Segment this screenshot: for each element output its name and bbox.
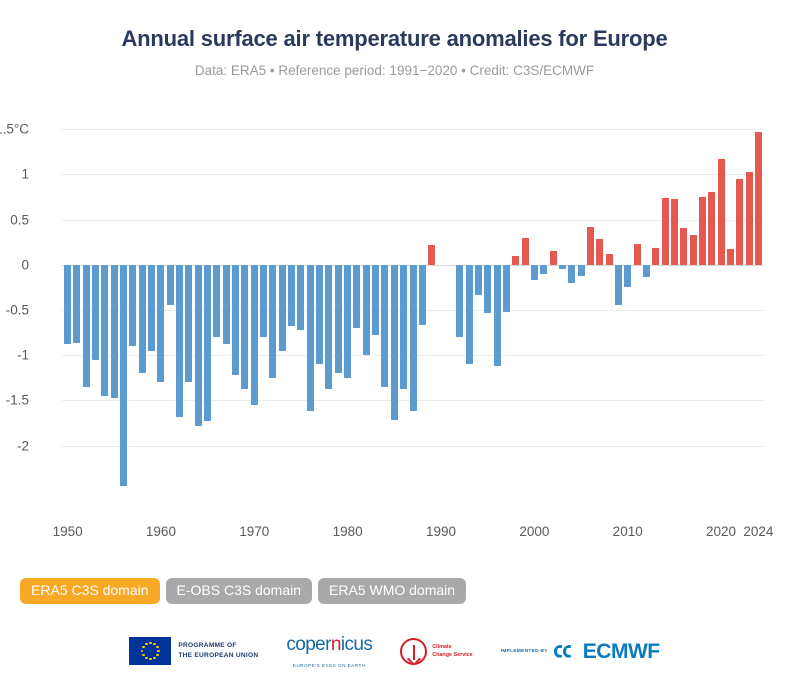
eu-star-icon [149,642,152,645]
copernicus-accent-letter: n [331,634,341,655]
copernicus-text-b: icus [341,634,372,655]
x-axis: 195019601970198019902000201020202024 [62,524,764,548]
y-axis-tick-label: 0.5 [0,212,29,227]
domain-legend: ERA5 C3S domainE-OBS C3S domainERA5 WMO … [20,578,466,604]
x-axis-tick-label: 2020 [706,524,736,539]
x-axis-tick-label: 2024 [743,524,773,539]
copernicus-wordmark: copernicus [286,635,372,654]
x-axis-tick-label: 2000 [519,524,549,539]
legend-pill-0[interactable]: ERA5 C3S domain [20,578,160,604]
ecmwf-implemented-by-text: IMPLEMENTED BY [501,649,548,654]
legend-pill-2[interactable]: ERA5 WMO domain [318,578,466,604]
y-axis-tick-label: 1.5°C [0,122,29,137]
y-axis-tick-label: -2 [0,438,29,453]
y-axis-tick-label: -0.5 [0,303,29,318]
eu-star-icon [149,658,152,661]
eu-logo-text: PROGRAMME OF THE EUROPEAN UNION [178,641,258,660]
legend-pill-1[interactable]: E-OBS C3S domain [166,578,313,604]
eu-star-icon [142,654,145,657]
ecmwf-c-icon-2 [563,645,576,658]
eu-star-icon [145,657,148,660]
y-axis-tick-label: 0 [0,257,29,272]
eu-star-icon [141,650,144,653]
x-axis-tick-label: 1990 [426,524,456,539]
footer-logos: PROGRAMME OF THE EUROPEAN UNION copernic… [0,628,789,674]
eu-star-icon [156,654,159,657]
ecmwf-logo: IMPLEMENTED BY ECMWF [501,641,660,662]
ecmwf-wordmark: ECMWF [583,641,660,662]
eu-star-icon [153,657,156,660]
chart-page: Annual surface air temperature anomalies… [0,0,789,698]
copernicus-text-a: coper [286,634,331,655]
eu-logo: PROGRAMME OF THE EUROPEAN UNION [129,637,258,665]
eu-star-icon [153,643,156,646]
eu-logo-line1: PROGRAMME OF [178,641,258,651]
x-axis-tick-label: 1970 [239,524,269,539]
eu-star-icon [145,643,148,646]
c3s-logo-text: Climate Change Service [432,643,472,659]
copernicus-logo: copernicus EUROPE'S EYES ON EARTH [286,635,372,668]
y-axis-tick-label: 1 [0,167,29,182]
copernicus-tagline: EUROPE'S EYES ON EARTH [293,663,366,668]
eu-star-icon [157,650,160,653]
climate-change-service-logo: Climate Change Service [400,638,472,665]
x-axis-tick-label: 1960 [146,524,176,539]
x-axis-tick-label: 1950 [53,524,83,539]
eu-logo-line2: THE EUROPEAN UNION [178,651,258,661]
eu-star-icon [156,646,159,649]
ecmwf-double-c-icon [554,645,576,658]
c3s-line2: Change Service [432,651,472,659]
chart-subtitle: Data: ERA5 • Reference period: 1991−2020… [0,63,789,78]
thermometer-arrow-icon [400,638,427,665]
eu-star-icon [142,646,145,649]
eu-flag-icon [129,637,171,665]
page-title: Annual surface air temperature anomalies… [0,26,789,52]
y-axis: 1.5°C10.50-0.5-1-1.5-2 [62,120,764,500]
x-axis-tick-label: 1980 [333,524,363,539]
c3s-line1: Climate [432,643,472,651]
x-axis-tick-label: 2010 [613,524,643,539]
y-axis-tick-label: -1 [0,348,29,363]
y-axis-tick-label: -1.5 [0,393,29,408]
